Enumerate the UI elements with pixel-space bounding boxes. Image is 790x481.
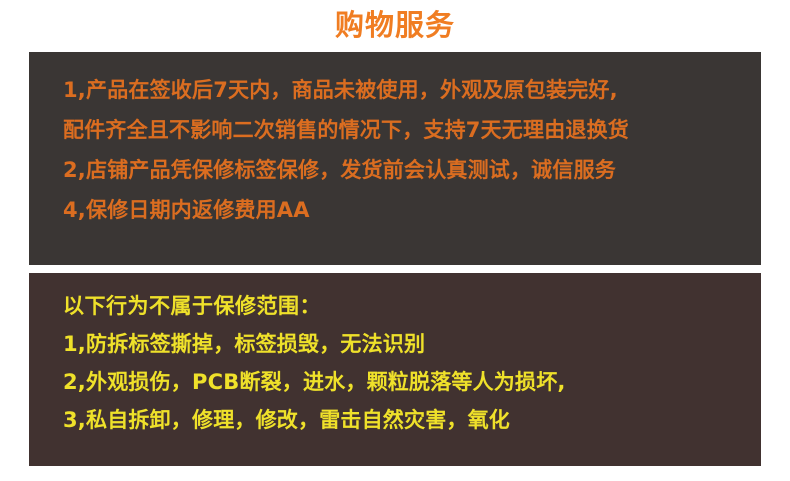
- policy-line-1: 1,产品在签收后7天内，商品未被使用，外观及原包装完好,: [63, 70, 751, 110]
- warranty-exclusions-panel: 以下行为不属于保修范围： 1,防拆标签撕掉，标签损毁，无法识别 2,外观损伤，P…: [29, 273, 761, 466]
- exclusions-line-3: 3,私自拆卸，修理，修改，雷击自然灾害，氧化: [63, 401, 751, 439]
- policy-line-2: 配件齐全且不影响二次销售的情况下，支持7天无理由退换货: [63, 110, 751, 150]
- shopping-policy-panel: 1,产品在签收后7天内，商品未被使用，外观及原包装完好, 配件齐全且不影响二次销…: [29, 52, 761, 265]
- exclusions-heading: 以下行为不属于保修范围：: [63, 287, 751, 325]
- page-title: 购物服务: [0, 8, 790, 42]
- shopping-service-page: 购物服务 1,产品在签收后7天内，商品未被使用，外观及原包装完好, 配件齐全且不…: [0, 0, 790, 481]
- warranty-exclusions-text-block: 以下行为不属于保修范围： 1,防拆标签撕掉，标签损毁，无法识别 2,外观损伤，P…: [63, 287, 751, 439]
- exclusions-line-1: 1,防拆标签撕掉，标签损毁，无法识别: [63, 325, 751, 363]
- shopping-policy-text-block: 1,产品在签收后7天内，商品未被使用，外观及原包装完好, 配件齐全且不影响二次销…: [63, 70, 751, 230]
- policy-line-4: 4,保修日期内返修费用AA: [63, 190, 751, 230]
- exclusions-line-2: 2,外观损伤，PCB断裂，进水，颗粒脱落等人为损坏,: [63, 363, 751, 401]
- policy-line-3: 2,店铺产品凭保修标签保修，发货前会认真测试，诚信服务: [63, 150, 751, 190]
